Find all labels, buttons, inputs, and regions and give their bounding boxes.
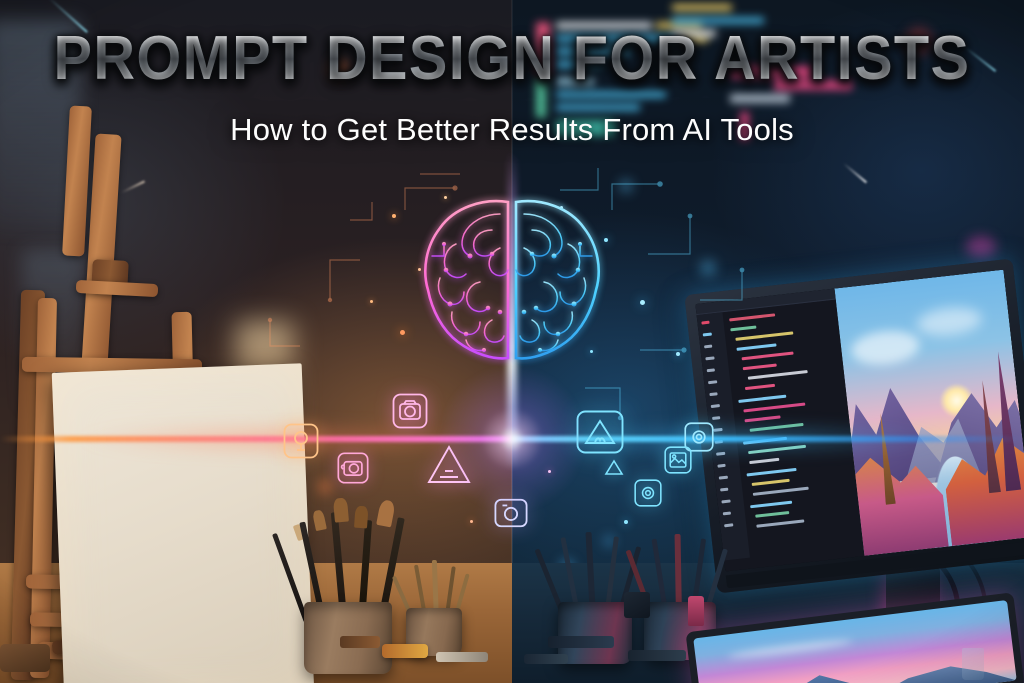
page-title: PROMPT DESIGN FOR ARTISTS: [54, 27, 971, 91]
wood-block: [0, 644, 50, 672]
desk-tool: [548, 636, 614, 648]
poster-root: PROMPT DESIGN FOR ARTISTS How to Get Bet…: [0, 0, 1024, 683]
particle: [624, 520, 628, 524]
eraser-block: [624, 592, 650, 618]
charcoal-stick: [436, 652, 488, 662]
ink-bottle: [688, 596, 704, 626]
image-icon: [604, 459, 624, 477]
brush-head: [354, 506, 369, 529]
desk-tool: [524, 654, 568, 664]
paint-tube: [382, 644, 428, 658]
lightbulb-icon: [283, 423, 319, 459]
page-subtitle: How to Get Better Results From AI Tools: [0, 112, 1024, 148]
pen-cup-right: [644, 534, 724, 642]
pen-cup-left: [556, 530, 642, 640]
particle: [676, 352, 680, 356]
glass-cup: [962, 648, 984, 680]
aperture-icon: [634, 479, 662, 507]
tablet-art-mountains: [869, 653, 1017, 683]
pen-cup: [558, 602, 632, 664]
neural-brain-graphic: [396, 186, 628, 376]
gallery-icon: [664, 446, 692, 474]
particle: [640, 300, 645, 305]
brain-left-hemisphere: [425, 201, 508, 358]
camera-icon: [392, 393, 428, 429]
tablet-art-mountains: [718, 661, 885, 683]
tablet-art-cloud: [727, 637, 853, 660]
brush-cup-small: [404, 562, 466, 640]
title-block: PROMPT DESIGN FOR ARTISTS: [0, 27, 1024, 91]
palette-knife: [340, 636, 380, 648]
particle: [370, 300, 373, 303]
brain-right-hemisphere: [516, 201, 599, 358]
camera-icon: [337, 452, 369, 484]
desk-tool: [628, 650, 686, 661]
beam-core-flare: [427, 354, 597, 524]
brush-cup-large: [296, 516, 406, 636]
